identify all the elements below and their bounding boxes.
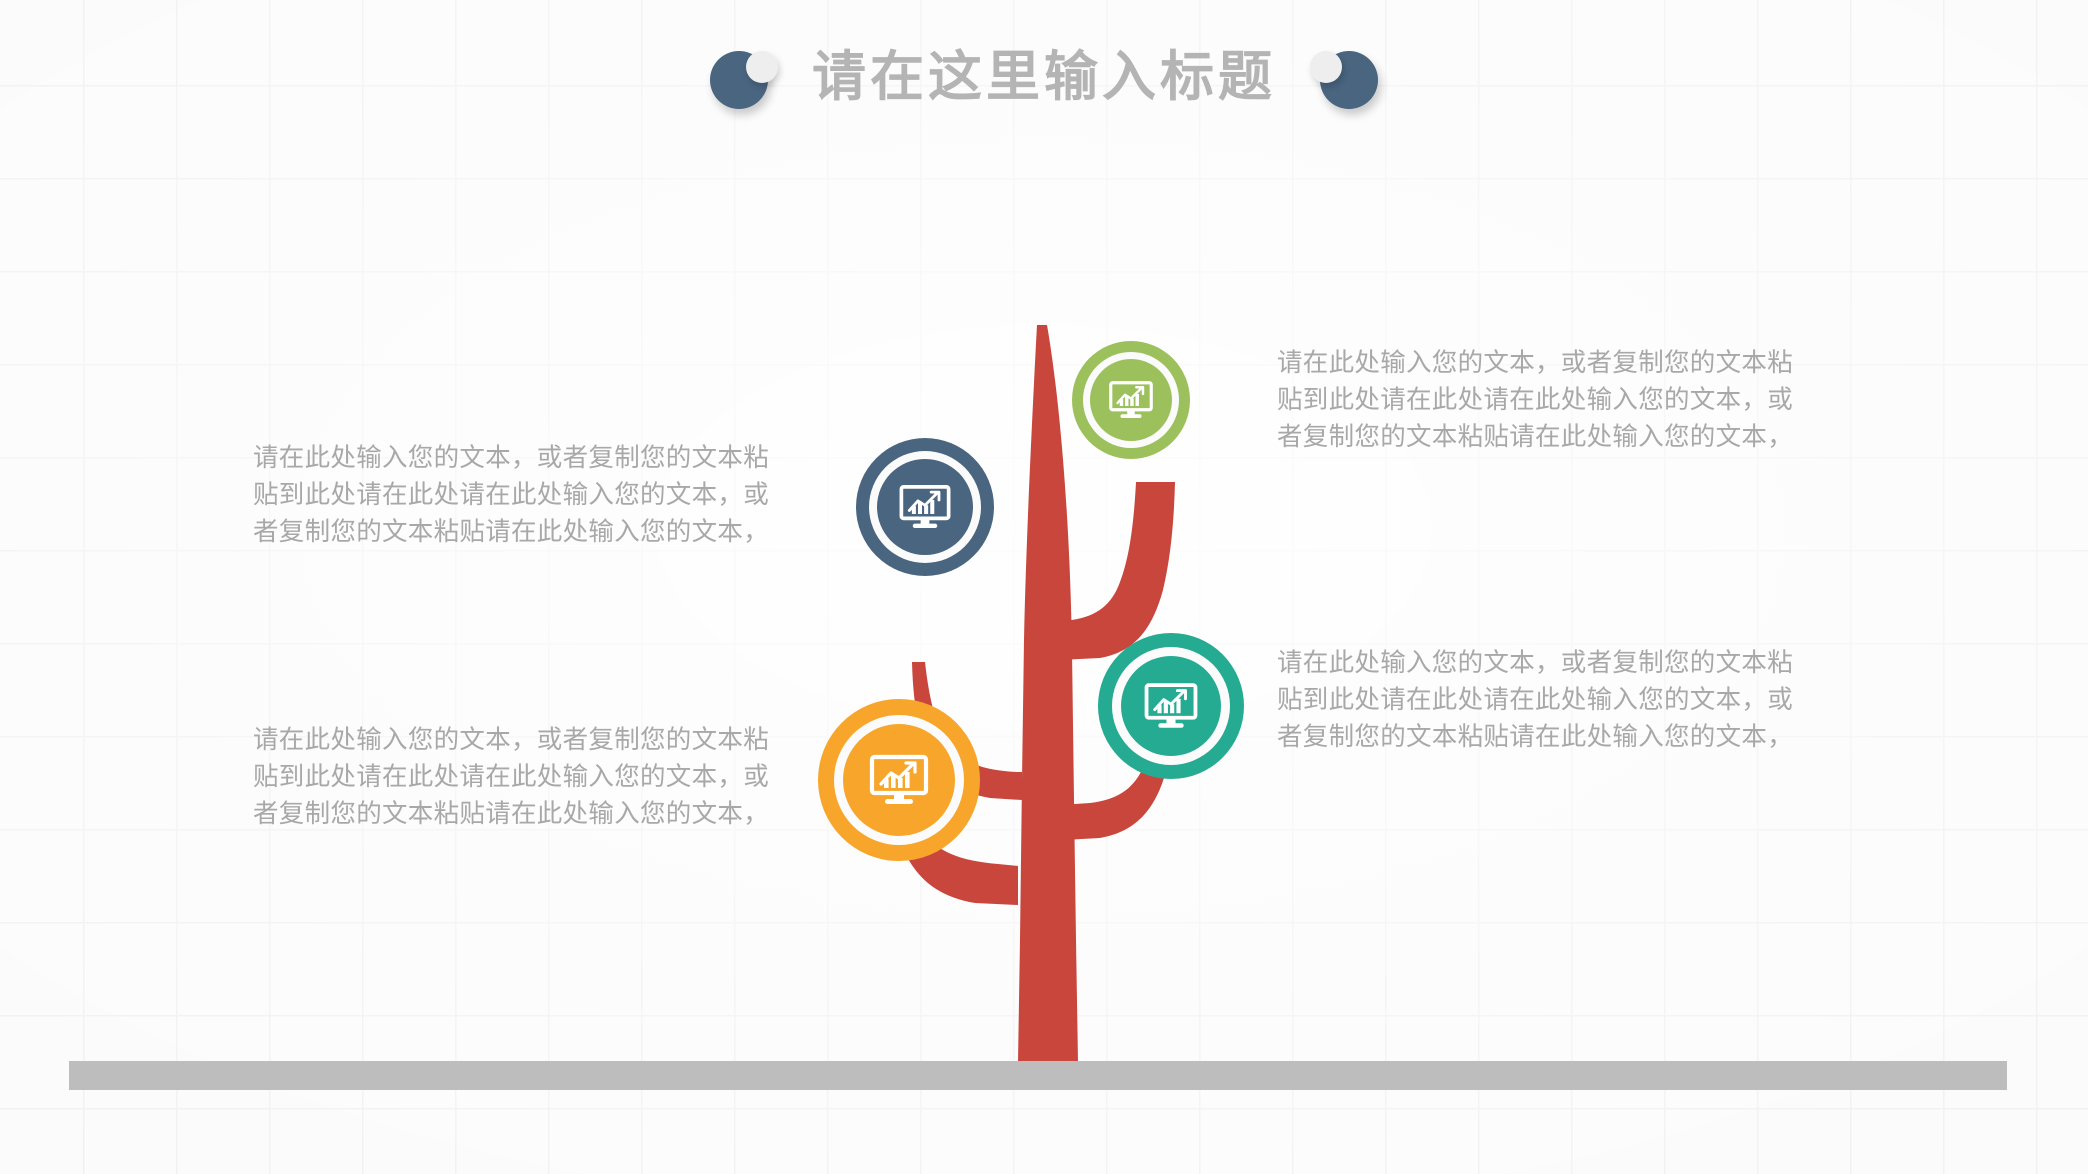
node-orange-core <box>843 724 955 836</box>
slide-canvas: 请在这里输入标题 <box>0 0 2088 1174</box>
node-orange[interactable] <box>818 699 980 861</box>
node-teal[interactable] <box>1098 633 1244 779</box>
node-teal-core <box>1121 656 1221 756</box>
text-bottom-right: 请在此处输入您的文本，或者复制您的文本粘贴到此处请在此处请在此处输入您的文本，或… <box>1277 645 1809 757</box>
left-decoration-small-circle <box>746 51 778 83</box>
node-blue-core <box>877 459 973 555</box>
monitor-growth-chart-icon <box>1107 376 1155 424</box>
node-teal-ring-gap <box>1112 647 1230 765</box>
node-blue-ring-gap <box>869 451 981 563</box>
node-green-ring-gap <box>1083 352 1179 448</box>
node-orange-ring-gap <box>834 715 964 845</box>
right-title-decoration <box>1310 43 1378 111</box>
node-green-core <box>1090 359 1172 441</box>
text-top-right: 请在此处输入您的文本，或者复制您的文本粘贴到此处请在此处请在此处输入您的文本，或… <box>1277 345 1809 457</box>
right-decoration-small-circle <box>1310 51 1342 83</box>
monitor-growth-chart-icon <box>867 748 931 812</box>
monitor-growth-chart-icon <box>897 479 953 535</box>
ground-bar <box>69 1061 2007 1090</box>
text-bottom-left: 请在此处输入您的文本，或者复制您的文本粘贴到此处请在此处请在此处输入您的文本，或… <box>253 722 781 834</box>
node-green[interactable] <box>1072 341 1190 459</box>
background-grid <box>0 0 2088 1174</box>
node-blue[interactable] <box>856 438 994 576</box>
monitor-growth-chart-icon <box>1142 677 1200 735</box>
left-title-decoration <box>710 43 778 111</box>
text-top-left: 请在此处输入您的文本，或者复制您的文本粘贴到此处请在此处请在此处输入您的文本，或… <box>253 440 781 552</box>
page-title: 请在这里输入标题 <box>812 50 1276 104</box>
slide-header: 请在这里输入标题 <box>0 32 2088 122</box>
